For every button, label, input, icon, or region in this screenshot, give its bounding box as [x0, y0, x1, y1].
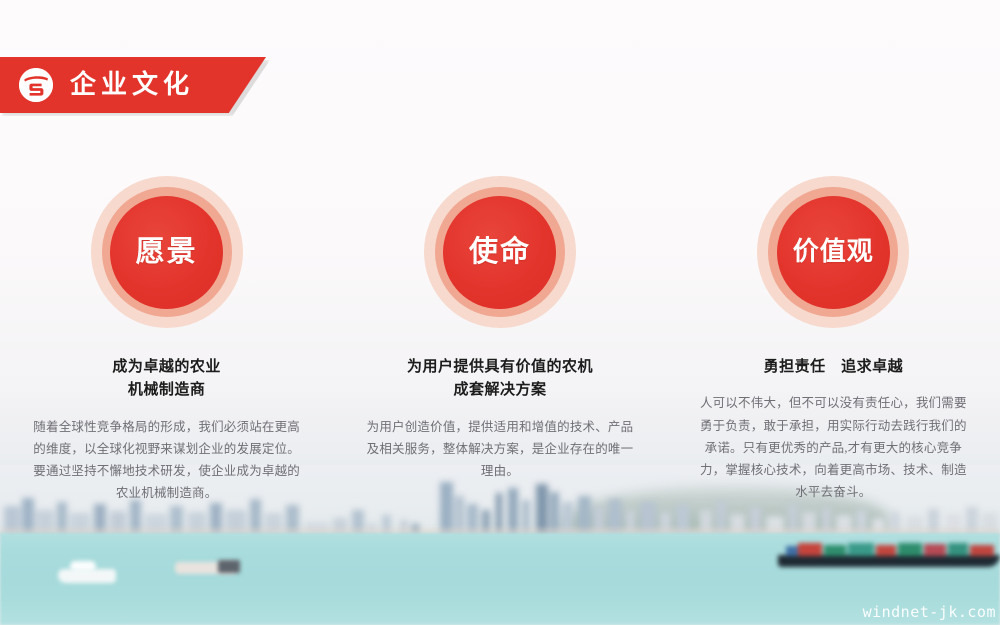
values-badge-label: 价值观: [793, 239, 874, 265]
vision-badge-label: 愿景: [136, 238, 198, 267]
photo-boat: [58, 569, 116, 583]
mission-badge-label: 使命: [469, 238, 531, 267]
values-body: 人可以不伟大，但不可以没有责任心，我们需要勇于负责，敢于承担，用实际行动去践行我…: [694, 392, 972, 503]
company-s-logo-icon: [19, 68, 53, 102]
vision-heading: 成为卓越的农业机械制造商: [112, 356, 221, 403]
slide-canvas: 企业文化 愿景 成为卓越的农业机械制造商 随着全球性竞争格局的形成，我们必须站在…: [0, 0, 1000, 625]
culture-columns: 愿景 成为卓越的农业机械制造商 随着全球性竞争格局的形成，我们必须站在更高的维度…: [0, 176, 1000, 505]
page-title: 企业文化: [70, 68, 194, 102]
values-heading: 勇担责任 追求卓越: [764, 356, 904, 379]
vision-badge-core: 愿景: [110, 196, 223, 309]
values-badge-core: 价值观: [777, 196, 890, 309]
photo-container-ship: [778, 543, 1000, 565]
photo-boat: [218, 560, 240, 573]
mission-body: 为用户创造价值，提供适用和增值的技术、产品及相关服务，整体解决方案，是企业存在的…: [361, 416, 639, 483]
site-watermark: windnet-jk.com: [863, 603, 996, 621]
section-header-ribbon: 企业文化: [0, 57, 268, 113]
mission-badge-core: 使命: [443, 196, 556, 309]
photo-boat: [70, 561, 96, 571]
values-badge: 价值观: [757, 176, 909, 328]
mission-badge: 使命: [424, 176, 576, 328]
vision-badge: 愿景: [91, 176, 243, 328]
culture-column-values: 价值观 勇担责任 追求卓越 人可以不伟大，但不可以没有责任心，我们需要勇于负责，…: [667, 176, 1000, 505]
vision-body: 随着全球性竞争格局的形成，我们必须站在更高的维度，以全球化视野来谋划企业的发展定…: [28, 416, 306, 505]
mission-heading: 为用户提供具有价值的农机成套解决方案: [407, 356, 593, 403]
culture-column-vision: 愿景 成为卓越的农业机械制造商 随着全球性竞争格局的形成，我们必须站在更高的维度…: [0, 176, 333, 505]
culture-column-mission: 使命 为用户提供具有价值的农机成套解决方案 为用户创造价值，提供适用和增值的技术…: [333, 176, 666, 505]
